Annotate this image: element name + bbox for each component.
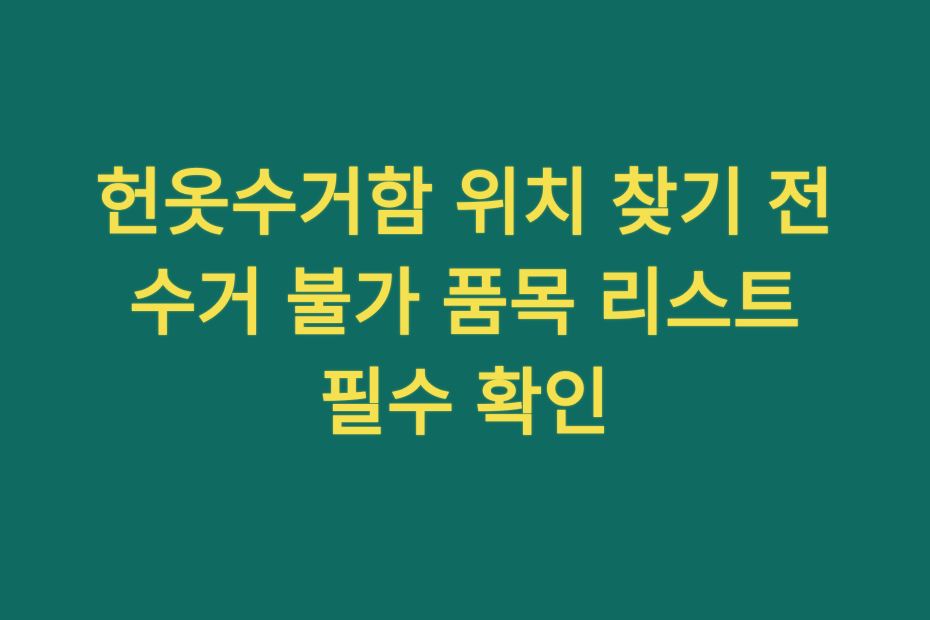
headline-line-3: 필수 확인	[40, 354, 890, 454]
headline-line-1: 헌옷수거함 위치 찾기 전	[40, 154, 890, 254]
headline-block: 헌옷수거함 위치 찾기 전 수거 불가 품목 리스트 필수 확인	[0, 154, 930, 454]
headline-line-2: 수거 불가 품목 리스트	[40, 254, 890, 354]
thumbnail-banner: 헌옷수거함 위치 찾기 전 수거 불가 품목 리스트 필수 확인	[0, 0, 930, 620]
